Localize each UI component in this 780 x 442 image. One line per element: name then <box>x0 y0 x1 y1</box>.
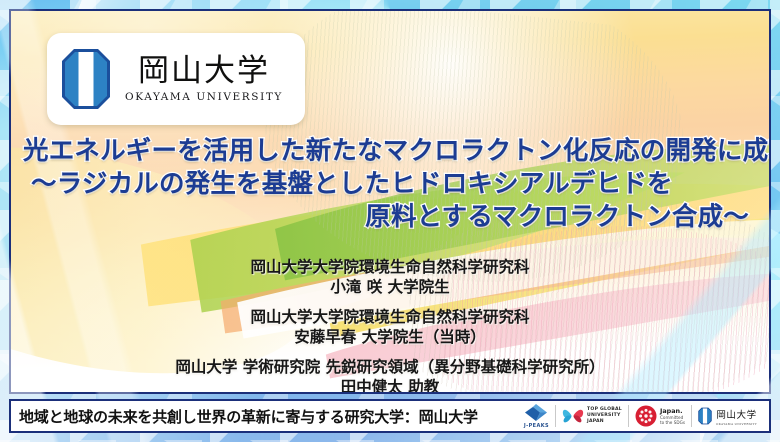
content-panel: 岡山大学 OKAYAMA UNIVERSITY 光エネルギーを活用した新たなマク… <box>9 9 771 394</box>
press-release-banner: 岡山大学 OKAYAMA UNIVERSITY 光エネルギーを活用した新たなマク… <box>0 0 780 442</box>
author-affiliation: 岡山大学大学院環境生命自然科学研究科 <box>11 257 769 277</box>
partner-logo-strip: J-PEAKS TOP GLOBAL UNIVERSITY <box>518 401 769 431</box>
sakura-circle-icon <box>635 405 657 427</box>
butterfly-icon <box>562 406 584 426</box>
logo-name-en: OKAYAMA UNIVERSITY <box>125 91 283 103</box>
bottom-tagline-bar: 地域と地球の未来を共創し世界の革新に寄与する研究大学：岡山大学 J-PEAKS <box>9 399 771 433</box>
okayama-university-octagon-mark <box>61 48 111 110</box>
japan-sdgs-logo: Japan. Committed to the SDGs <box>629 401 691 431</box>
author-entry: 岡山大学大学院環境生命自然科学研究科 安藤早春 大学院生（当時） <box>11 307 769 347</box>
author-entry: 岡山大学大学院環境生命自然科学研究科 小滝 咲 大学院生 <box>11 257 769 297</box>
okayama-university-octagon-mark-small <box>698 405 712 427</box>
jpeaks-mountain-icon <box>524 403 548 422</box>
author-list: 岡山大学大学院環境生命自然科学研究科 小滝 咲 大学院生 岡山大学大学院環境生命… <box>11 257 769 394</box>
tgu-line-3: JAPAN <box>587 419 622 425</box>
okayama-university-bar-logo: 岡山大学 OKAYAMA UNIVERSITY <box>692 401 763 431</box>
bar-logo-name-en: OKAYAMA UNIVERSITY <box>716 422 757 426</box>
author-entry: 岡山大学 学術研究院 先鋭研究領域（異分野基礎科学研究所） 田中健太 助教 <box>11 357 769 394</box>
sdgs-line-1: Japan. <box>660 408 685 415</box>
press-release-title: 光エネルギーを活用した新たなマクロラクトン化反応の開発に成功 〜ラジカルの発生を… <box>11 135 769 234</box>
sdgs-line-3: to the SDGs <box>660 420 685 425</box>
title-line-1: 光エネルギーを活用した新たなマクロラクトン化反応の開発に成功 <box>23 135 757 168</box>
jpeaks-label: J-PEAKS <box>524 423 549 429</box>
tagline-text: 地域と地球の未来を共創し世界の革新に寄与する研究大学：岡山大学 <box>11 406 478 427</box>
logo-wordmark: 岡山大学 OKAYAMA UNIVERSITY <box>125 55 283 104</box>
top-global-university-logo: TOP GLOBAL UNIVERSITY JAPAN <box>556 401 628 431</box>
title-line-3: 原料とするマクロラクトン合成〜 <box>23 201 757 234</box>
author-name: 田中健太 助教 <box>11 377 769 394</box>
author-name: 安藤早春 大学院生（当時） <box>11 327 769 347</box>
author-affiliation: 岡山大学 学術研究院 先鋭研究領域（異分野基礎科学研究所） <box>11 357 769 377</box>
author-name: 小滝 咲 大学院生 <box>11 277 769 297</box>
bar-logo-name-jp: 岡山大学 <box>716 407 756 421</box>
author-affiliation: 岡山大学大学院環境生命自然科学研究科 <box>11 307 769 327</box>
okayama-university-logo-card: 岡山大学 OKAYAMA UNIVERSITY <box>47 33 305 125</box>
jpeaks-logo: J-PEAKS <box>518 401 555 431</box>
title-line-2: 〜ラジカルの発生を基盤としたヒドロキシアルデヒドを <box>23 168 757 201</box>
logo-name-jp: 岡山大学 <box>138 55 270 88</box>
